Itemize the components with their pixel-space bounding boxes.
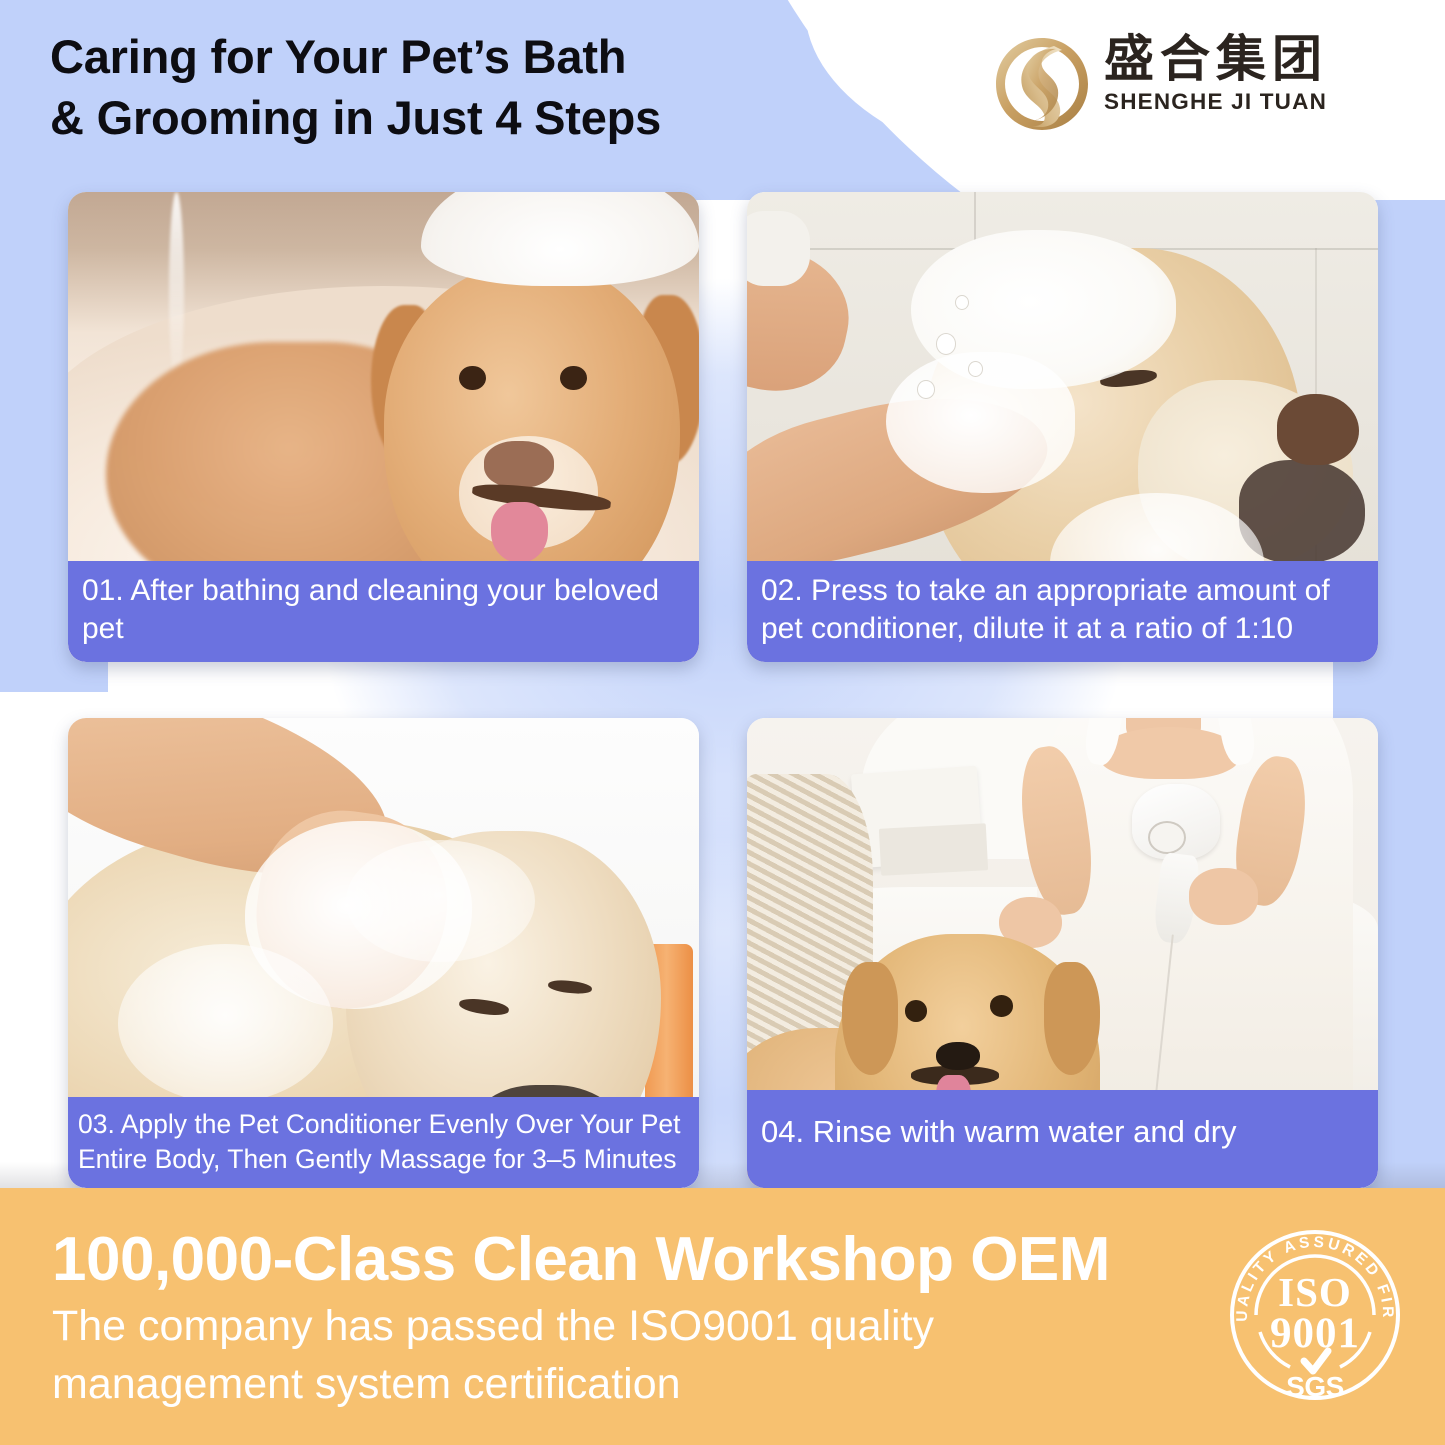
logo-chinese-name: 盛合集团 [1104,32,1409,86]
step-2-caption: 02. Press to take an appropriate amount … [747,561,1378,662]
brand-logo: 盛合集团 SHENGHE JI TUAN [992,30,1412,148]
iso-9001-badge-icon: QUALITY ASSURED FIRM ISO 9001 SGS [1220,1220,1410,1410]
logo-pinyin: SHENGHE JI TUAN [1104,89,1409,115]
header: Caring for Your Pet’s Bath & Grooming in… [0,0,1445,186]
step-4-caption: 04. Rinse with warm water and dry [747,1090,1378,1188]
svg-text:9001: 9001 [1270,1310,1360,1357]
page-title-line-1: Caring for Your Pet’s Bath [50,30,626,83]
page-title-line-2: & Grooming in Just 4 Steps [50,87,850,148]
step-1-caption: 01. After bathing and cleaning your belo… [68,561,699,662]
steps-grid: 01. After bathing and cleaning your belo… [68,192,1378,1188]
step-card-4[interactable]: 04. Rinse with warm water and dry [747,718,1378,1188]
step-card-1[interactable]: 01. After bathing and cleaning your belo… [68,192,699,662]
certification-banner: 100,000-Class Clean Workshop OEM The com… [0,1188,1445,1445]
shenghe-s-emblem-icon [992,34,1092,134]
step-card-3[interactable]: 03. Apply the Pet Conditioner Evenly Ove… [68,718,699,1188]
step-card-2[interactable]: 02. Press to take an appropriate amount … [747,192,1378,662]
banner-headline: 100,000-Class Clean Workshop OEM [52,1224,1110,1295]
logo-wordmark: 盛合集团 SHENGHE JI TUAN [1104,32,1409,115]
page-title: Caring for Your Pet’s Bath & Grooming in… [50,26,850,148]
step-3-caption: 03. Apply the Pet Conditioner Evenly Ove… [68,1097,699,1188]
banner-subtext: The company has passed the ISO9001 quali… [52,1298,1062,1413]
svg-text:ISO: ISO [1278,1269,1352,1315]
svg-text:SGS: SGS [1286,1371,1344,1402]
